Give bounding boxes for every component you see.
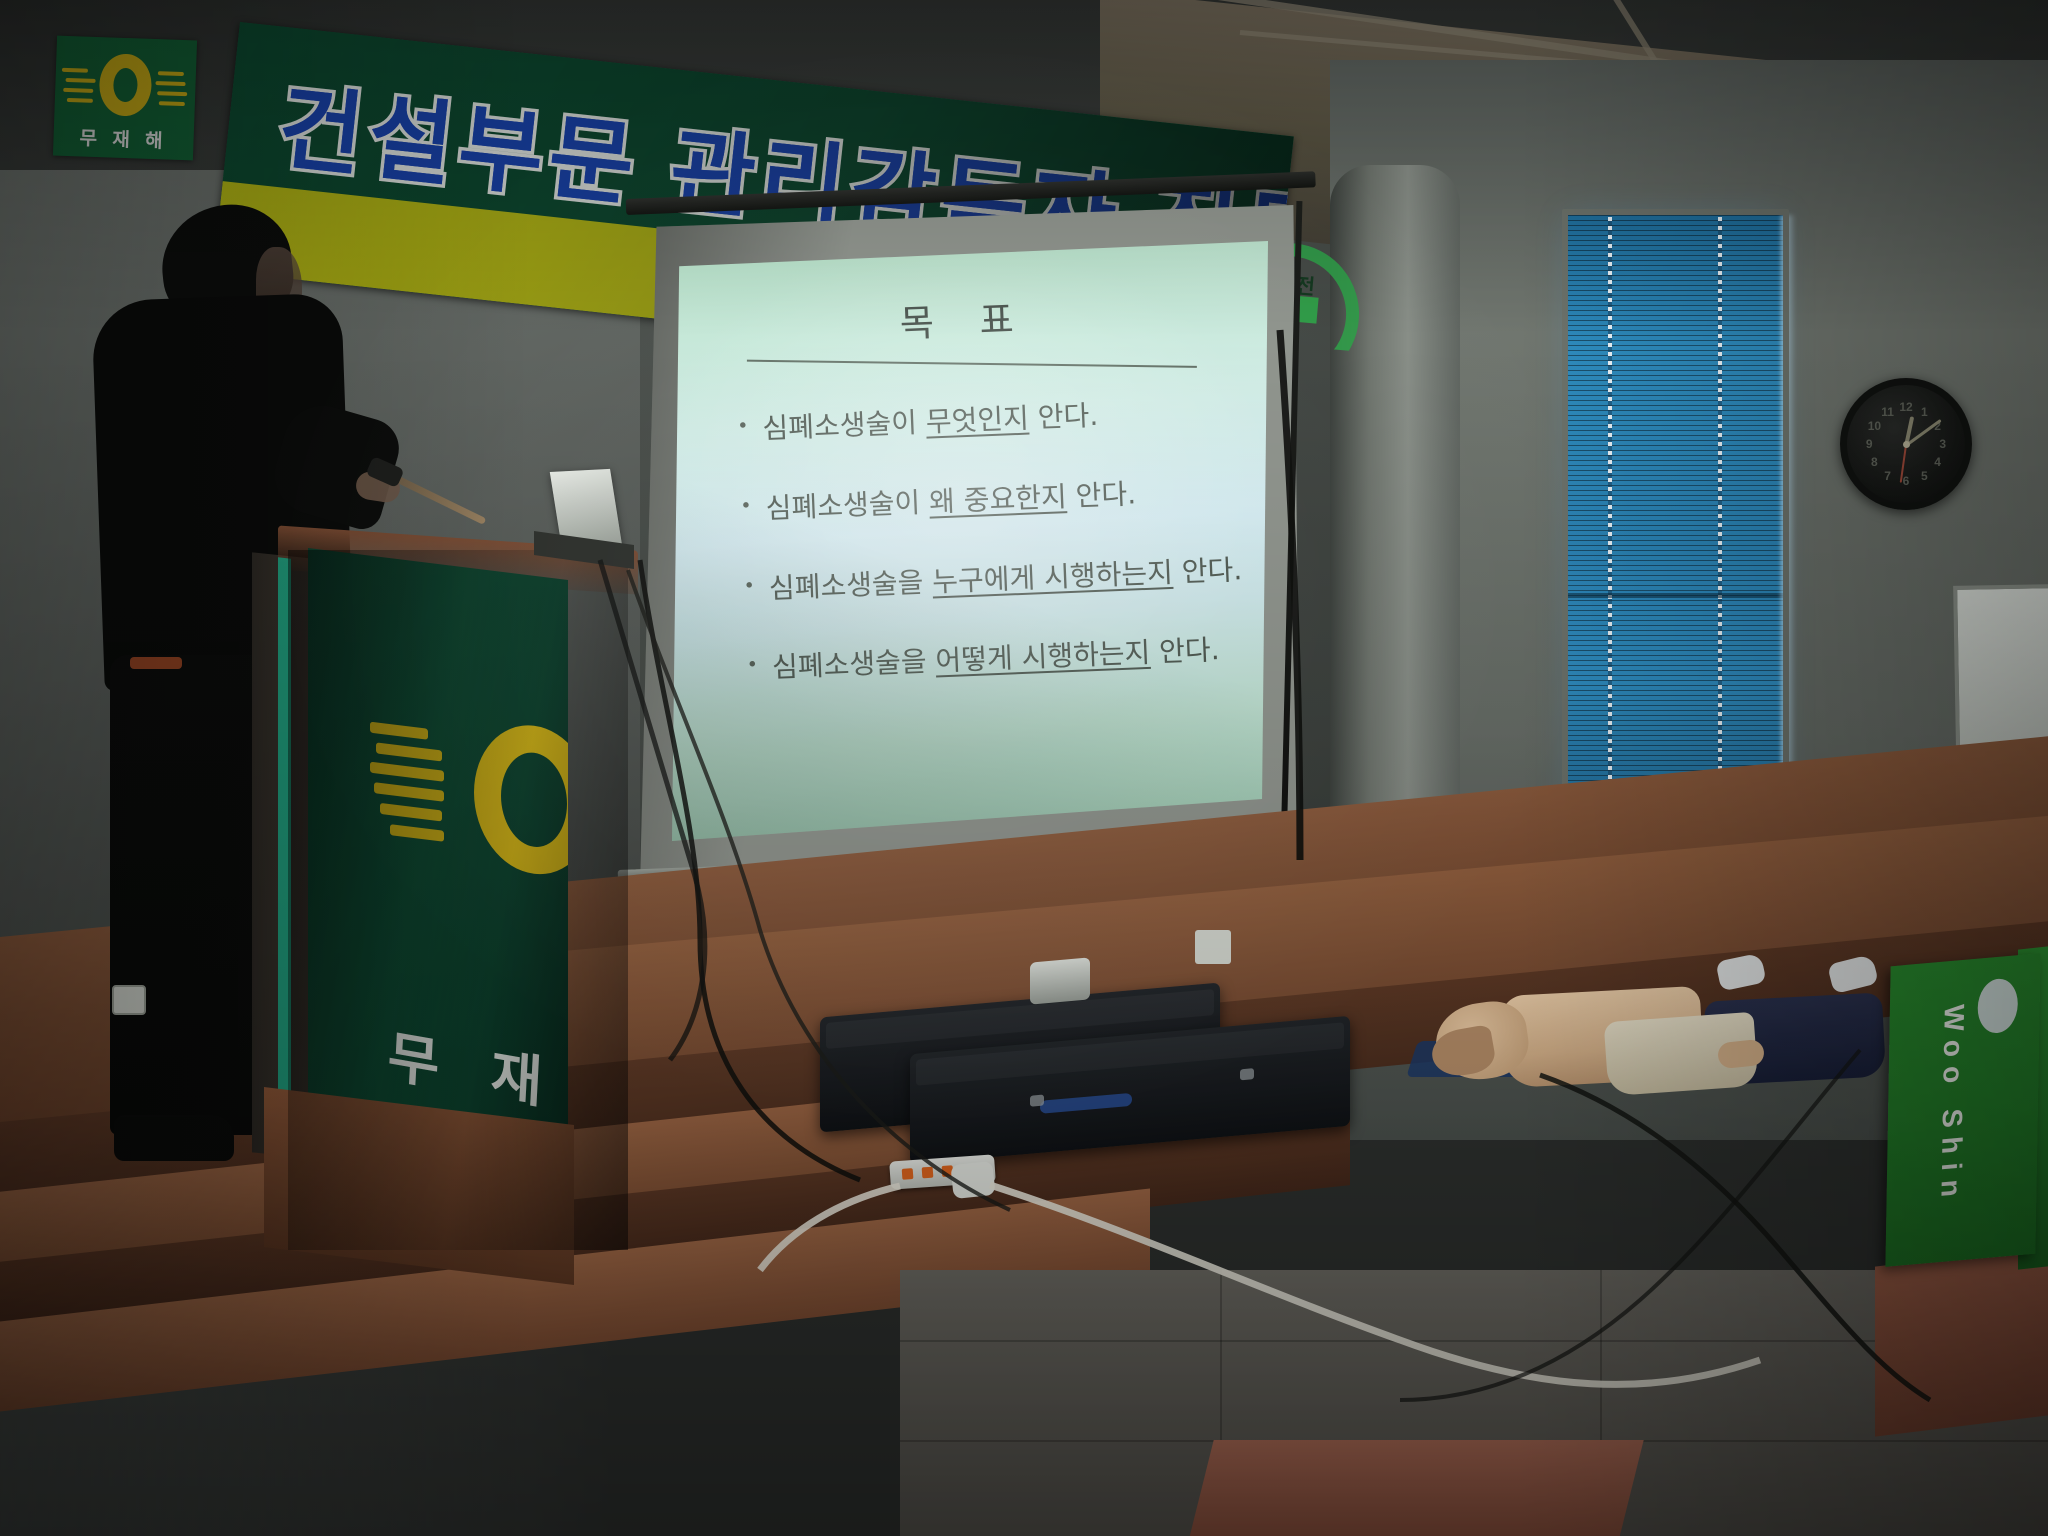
clock-numeral: 11: [1881, 405, 1894, 419]
podium: 무 재: [288, 550, 628, 1250]
projected-slide: 목 표 • 심폐소생술이 무엇인지 안다. • 심폐소생술이 왜 중요한지 안다…: [672, 241, 1268, 841]
clock-center-pin: [1903, 441, 1910, 448]
zero-accident-logo: 무 재 해: [53, 36, 197, 161]
case-latch[interactable]: [1030, 1095, 1044, 1107]
projector: [1030, 957, 1090, 1004]
manikin-shoe: [1827, 954, 1879, 994]
clock-numeral: 1: [1921, 405, 1928, 419]
clock-face: 12 1 2 3 4 5 6 7 8 9 10 11: [1855, 393, 1957, 495]
podium-accent-stripe: [278, 557, 291, 1159]
clock-numeral: 6: [1903, 474, 1910, 488]
bullet-icon: •: [740, 492, 752, 522]
slide-content: 목 표 • 심폐소생술이 무엇인지 안다. • 심폐소생술이 왜 중요한지 안다…: [672, 245, 1268, 841]
case-handle[interactable]: [1040, 1093, 1132, 1114]
clock-numeral: 8: [1871, 455, 1878, 469]
clock-numeral: 7: [1884, 469, 1891, 483]
bullet-icon: •: [743, 571, 755, 601]
bullet-text: 심폐소생술이 무엇인지 안다.: [762, 398, 1099, 447]
side-table: [1875, 1243, 2048, 1436]
slide-bullet-item: • 심폐소생술이 무엇인지 안다.: [737, 392, 1244, 448]
floor-mat: [1186, 1440, 1643, 1536]
slide-bullet-item: • 심폐소생술이 왜 중요한지 안다.: [740, 472, 1247, 528]
scene-photograph: 건설부문 관리감독자 직무교육 건설부문 관리감독자 직무교육 무 재 해 안 …: [0, 0, 2048, 1536]
bullet-text: 심폐소생술을 어떻게 시행하는지 안다.: [771, 633, 1220, 687]
window: [1568, 215, 1783, 815]
slide-bullet-list: • 심폐소생술이 무엇인지 안다. • 심폐소생술이 왜 중요한지 안다. • …: [737, 392, 1255, 731]
podium-banner: 무 재: [308, 548, 568, 1150]
bullet-icon: •: [737, 412, 749, 442]
clock-numeral: 3: [1939, 437, 1946, 451]
clock-numeral: 12: [1899, 400, 1912, 414]
bullet-text: 심폐소생술을 누구에게 시행하는지 안다.: [768, 552, 1243, 607]
clock-numeral: 9: [1866, 437, 1873, 451]
cpr-training-manikin: [1430, 955, 1880, 1115]
case-latch[interactable]: [1240, 1068, 1254, 1080]
clock-numeral: 10: [1868, 419, 1881, 433]
projection-screen: 목 표 • 심폐소생술이 무엇인지 안다. • 심폐소생술이 왜 중요한지 안다…: [640, 205, 1300, 885]
logo-shading: [53, 36, 197, 161]
woo-shin-sign-text: Woo Shin: [1934, 1003, 1969, 1207]
woo-shin-sign: Woo Shin: [1885, 953, 2040, 1267]
slide-title-underline: [747, 360, 1197, 368]
presenter-belt: [130, 657, 182, 669]
power-plug[interactable]: [950, 1161, 995, 1199]
power-switch[interactable]: [902, 1168, 914, 1180]
window-frame: [1562, 209, 1789, 821]
clock-numeral: 4: [1934, 455, 1941, 469]
wall-outlet[interactable]: [1195, 930, 1231, 964]
slide-title: 목 표: [672, 279, 1264, 357]
bullet-icon: •: [746, 651, 758, 681]
power-switch[interactable]: [922, 1167, 934, 1179]
sign-ellipse-icon: [1977, 977, 2018, 1035]
manikin-shoe: [1715, 953, 1766, 992]
slide-bullet-item: • 심폐소생술을 어떻게 시행하는지 안다.: [746, 631, 1253, 687]
presenter-shoe: [114, 1115, 234, 1161]
bullet-text: 심폐소생술이 왜 중요한지 안다.: [765, 476, 1137, 527]
clock-numeral: 5: [1921, 469, 1928, 483]
wall-outlet[interactable]: [112, 985, 146, 1015]
wall-clock: 12 1 2 3 4 5 6 7 8 9 10 11: [1840, 378, 1972, 510]
slide-bullet-item: • 심폐소생술을 누구에게 시행하는지 안다.: [743, 551, 1250, 607]
